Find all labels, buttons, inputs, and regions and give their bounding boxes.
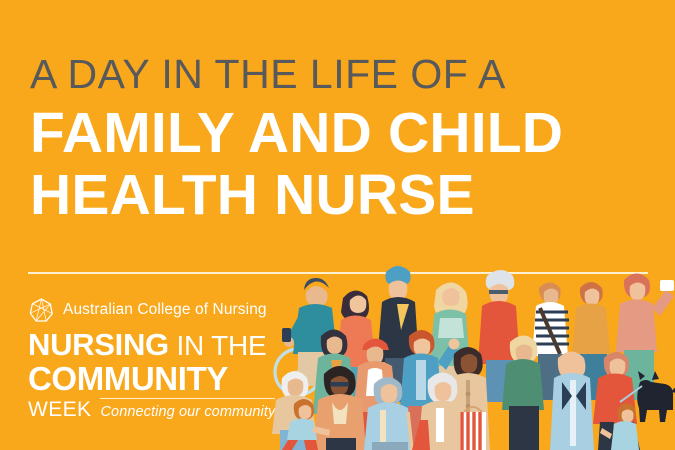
week-tagline-row: WEEK Connecting our community [28, 398, 278, 421]
headline-kicker: A DAY IN THE LIFE OF A [30, 52, 650, 96]
tagline-wrap: Connecting our community [100, 398, 275, 421]
poster-canvas: A DAY IN THE LIFE OF A FAMILY AND CHILD … [0, 0, 675, 450]
week-label: WEEK [28, 399, 91, 421]
hexagon-polygon-logo-icon [28, 297, 55, 324]
campaign-word-nursing: NURSING [28, 327, 169, 362]
organisation-name: Australian College of Nursing [63, 301, 267, 319]
striped-shopping-bag [460, 407, 486, 450]
organisation-row: Australian College of Nursing [28, 296, 278, 324]
campaign-word-in-the: IN THE [169, 330, 267, 361]
branding-lockup: Australian College of Nursing NURSING IN… [28, 296, 278, 421]
campaign-line-2: COMMUNITY [28, 362, 278, 396]
campaign-tagline: Connecting our community [100, 404, 275, 420]
headline-line-2: HEALTH NURSE [30, 166, 650, 224]
headline-line-1: FAMILY AND CHILD [30, 104, 650, 162]
community-crowd-illustration [268, 262, 675, 450]
tagline-rule [100, 398, 275, 399]
headline-block: A DAY IN THE LIFE OF A FAMILY AND CHILD … [30, 52, 650, 224]
